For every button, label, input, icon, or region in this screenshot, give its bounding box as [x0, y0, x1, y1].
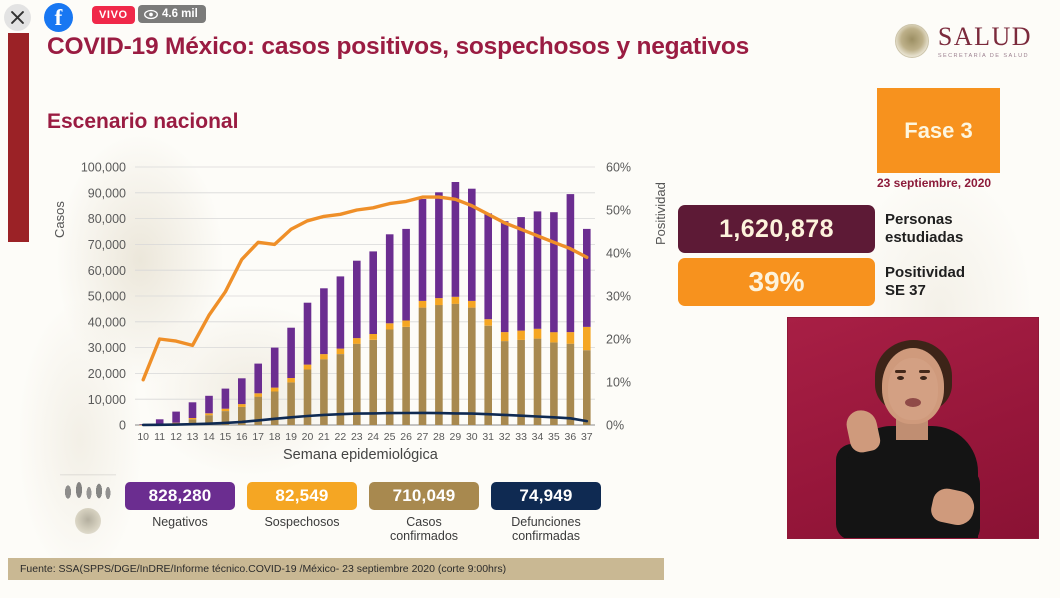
svg-text:20,000: 20,000 — [88, 367, 126, 381]
salud-tagline: SECRETARÍA DE SALUD — [938, 53, 1029, 59]
chart-gridlines — [135, 167, 595, 425]
interpreter-eyebrow-left — [895, 370, 906, 373]
svg-text:23: 23 — [351, 431, 363, 443]
svg-text:18: 18 — [269, 431, 281, 443]
legend-item: 74,949 Defunciones confirmadas — [491, 482, 601, 544]
svg-text:10: 10 — [137, 431, 149, 443]
svg-text:30%: 30% — [606, 290, 631, 304]
live-badge: VIVO — [92, 6, 135, 24]
legend-caption-line2: confirmados — [390, 529, 458, 543]
stat-label-line2: SE 37 — [885, 282, 965, 300]
svg-text:10,000: 10,000 — [88, 393, 126, 407]
svg-text:100,000: 100,000 — [81, 161, 126, 175]
close-icon[interactable] — [4, 4, 31, 31]
y-axis-label: Casos — [52, 201, 67, 238]
phase-badge: Fase 3 — [877, 88, 1000, 173]
interpreter-face — [888, 358, 938, 420]
legend-caption-line1: Sospechosos — [264, 515, 339, 529]
chart-y-axis-right: 0%10%20%30%40%50%60% — [606, 161, 631, 433]
emblem-icon — [75, 508, 101, 534]
x-axis-label: Semana epidemiológica — [283, 447, 438, 463]
page-title: COVID-19 México: casos positivos, sospec… — [47, 33, 827, 61]
presentation-slide: f VIVO 4.6 mil COVID-19 México: casos po… — [0, 0, 1060, 598]
legend-caption-negativos: Negativos — [152, 515, 208, 529]
svg-text:70,000: 70,000 — [88, 238, 126, 252]
stat-label-line1: Personas — [885, 211, 963, 229]
chart-x-axis: 1011121314151617181920212223242526272829… — [137, 431, 592, 443]
stat-positividad: 39% Positividad SE 37 — [678, 258, 965, 306]
legend-caption-line1: Defunciones — [511, 515, 581, 529]
stat-label-positividad: Positividad SE 37 — [885, 264, 965, 299]
svg-text:10%: 10% — [606, 376, 631, 390]
mexico-eagle-icon — [895, 24, 929, 58]
svg-text:60%: 60% — [606, 161, 631, 175]
title-accent-bar — [8, 33, 29, 242]
legend-value-sospechosos: 82,549 — [247, 482, 357, 510]
legend-caption-line1: Negativos — [152, 515, 208, 529]
interpreter-mouth — [905, 398, 921, 407]
report-date: 23 septiembre, 2020 — [877, 176, 1010, 190]
government-seal — [58, 468, 118, 546]
svg-text:25: 25 — [384, 431, 396, 443]
sign-language-interpreter-feed[interactable] — [787, 317, 1039, 539]
svg-text:80,000: 80,000 — [88, 212, 126, 226]
svg-text:35: 35 — [548, 431, 560, 443]
stat-label-line1: Positividad — [885, 264, 965, 282]
phase-label: Fase 3 — [904, 118, 973, 144]
interpreter-eye-right — [920, 376, 927, 380]
legend-caption-line1: Casos — [390, 515, 458, 529]
salud-logo: SALUD SECRETARÍA DE SALUD — [895, 22, 1032, 59]
svg-text:0%: 0% — [606, 419, 624, 433]
svg-text:14: 14 — [203, 431, 215, 443]
chart-legend: 828,280 Negativos 82,549 Sospechosos 710… — [125, 482, 601, 544]
svg-text:24: 24 — [367, 431, 379, 443]
legend-value-defunciones: 74,949 — [491, 482, 601, 510]
svg-text:20%: 20% — [606, 333, 631, 347]
legend-value-casos-confirmados: 710,049 — [369, 482, 479, 510]
eye-icon — [144, 9, 158, 20]
interpreter-eyebrow-right — [919, 370, 930, 373]
svg-text:37: 37 — [581, 431, 593, 443]
salud-wordmark: SALUD — [938, 22, 1032, 52]
stat-value-positividad: 39% — [678, 258, 875, 306]
svg-text:20: 20 — [302, 431, 314, 443]
stat-label-personas-estudiadas: Personas estudiadas — [885, 211, 963, 246]
svg-text:22: 22 — [335, 431, 347, 443]
svg-text:32: 32 — [499, 431, 511, 443]
svg-text:16: 16 — [236, 431, 248, 443]
source-footer: Fuente: SSA(SPPS/DGE/InDRE/Informe técni… — [8, 558, 664, 580]
legend-item: 710,049 Casos confirmados — [369, 482, 479, 544]
interpreter-eye-left — [897, 376, 904, 380]
svg-text:26: 26 — [400, 431, 412, 443]
svg-text:27: 27 — [417, 431, 429, 443]
chart-y-axis-left: 010,00020,00030,00040,00050,00060,00070,… — [81, 161, 126, 433]
svg-text:28: 28 — [433, 431, 445, 443]
svg-text:12: 12 — [170, 431, 182, 443]
epidemiological-chart: 010,00020,00030,00040,00050,00060,00070,… — [47, 150, 667, 470]
svg-text:36: 36 — [565, 431, 577, 443]
svg-text:13: 13 — [187, 431, 199, 443]
stat-value-personas-estudiadas: 1,620,878 — [678, 205, 875, 253]
source-text: Fuente: SSA(SPPS/DGE/InDRE/Informe técni… — [20, 563, 506, 575]
chart-canvas: 010,00020,00030,00040,00050,00060,00070,… — [47, 150, 667, 470]
legend-caption-line2: confirmadas — [511, 529, 581, 543]
stat-personas-estudiadas: 1,620,878 Personas estudiadas — [678, 205, 963, 253]
svg-text:50%: 50% — [606, 204, 631, 218]
svg-text:15: 15 — [220, 431, 232, 443]
live-stream-overlay: f VIVO 4.6 mil — [0, 0, 260, 34]
svg-text:31: 31 — [482, 431, 494, 443]
svg-text:60,000: 60,000 — [88, 264, 126, 278]
stat-label-line2: estudiadas — [885, 229, 963, 247]
viewer-count-text: 4.6 mil — [162, 8, 198, 20]
svg-text:40%: 40% — [606, 247, 631, 261]
svg-text:34: 34 — [532, 431, 544, 443]
page-subtitle: Escenario nacional — [47, 110, 238, 134]
svg-text:90,000: 90,000 — [88, 186, 126, 200]
y-axis-label-secondary: Positividad — [653, 182, 668, 245]
svg-text:11: 11 — [154, 431, 165, 443]
legend-value-negativos: 828,280 — [125, 482, 235, 510]
svg-text:17: 17 — [252, 431, 264, 443]
svg-text:29: 29 — [450, 431, 462, 443]
facebook-icon[interactable]: f — [44, 3, 73, 32]
svg-text:19: 19 — [285, 431, 297, 443]
crowd-icon — [60, 468, 116, 502]
svg-text:40,000: 40,000 — [88, 315, 126, 329]
legend-caption-sospechosos: Sospechosos — [264, 515, 339, 529]
svg-text:33: 33 — [515, 431, 527, 443]
svg-text:0: 0 — [119, 419, 126, 433]
svg-text:50,000: 50,000 — [88, 290, 126, 304]
legend-caption-casos-confirmados: Casos confirmados — [390, 515, 458, 544]
svg-text:30,000: 30,000 — [88, 341, 126, 355]
svg-text:30: 30 — [466, 431, 478, 443]
legend-caption-defunciones: Defunciones confirmadas — [511, 515, 581, 544]
svg-text:21: 21 — [318, 431, 330, 443]
legend-item: 828,280 Negativos — [125, 482, 235, 544]
legend-item: 82,549 Sospechosos — [247, 482, 357, 544]
viewer-count-badge: 4.6 mil — [138, 5, 206, 23]
